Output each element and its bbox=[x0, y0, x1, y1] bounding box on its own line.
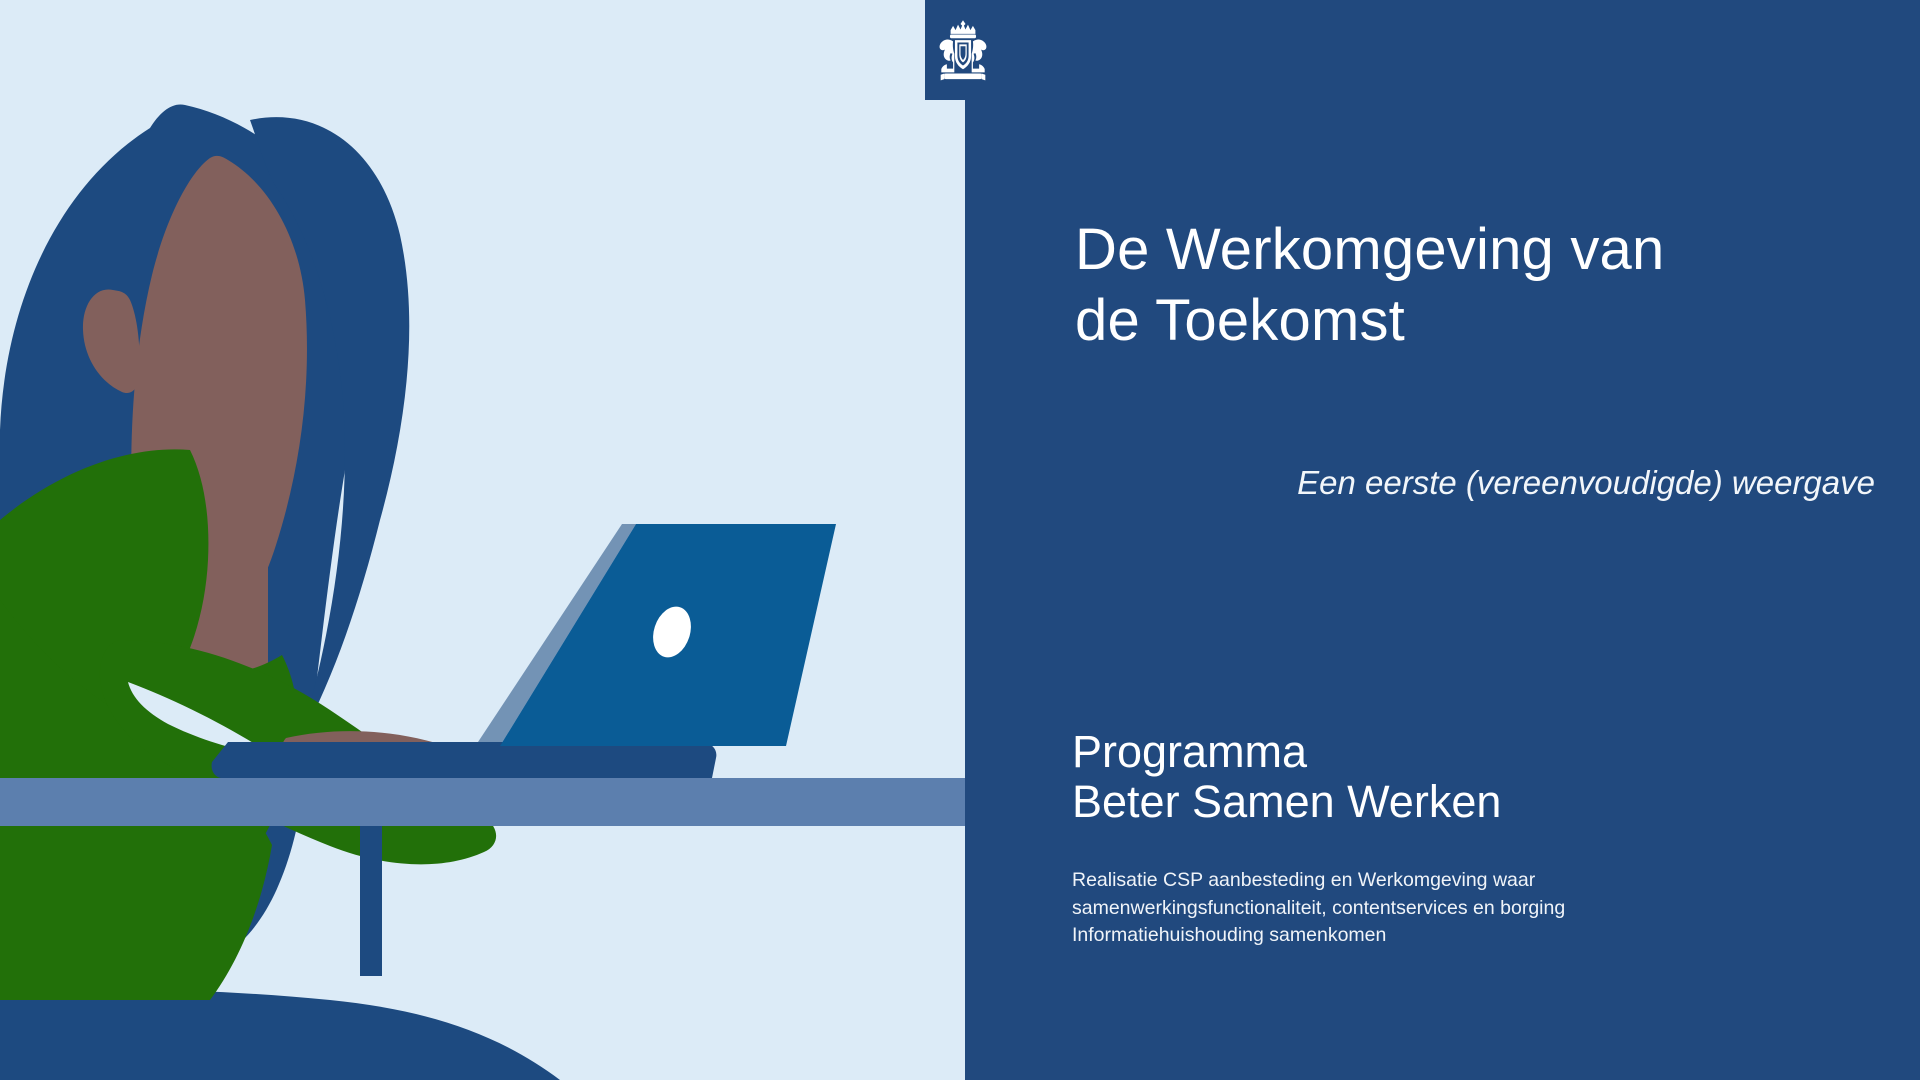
programme-line-1: Programma bbox=[1072, 727, 1892, 777]
slide-subtitle: Een eerste (vereenvoudigde) weergave bbox=[1075, 462, 1875, 503]
programme-line-2: Beter Samen Werken bbox=[1072, 777, 1892, 827]
laptop-base bbox=[212, 742, 717, 778]
blurb-line-3: Informatiehuishouding samenkomen bbox=[1072, 922, 1712, 950]
blurb-line-2: samenwerkingsfunctionaliteit, contentser… bbox=[1072, 895, 1712, 923]
blurb-line-1: Realisatie CSP aanbesteding en Werkomgev… bbox=[1072, 867, 1712, 895]
coat-of-arms-icon bbox=[932, 15, 994, 85]
desk-leg bbox=[360, 826, 382, 976]
presentation-slide: De Werkomgeving van de Toekomst Een eers… bbox=[0, 0, 1920, 1080]
hero-illustration bbox=[0, 0, 965, 1080]
title-line-1: De Werkomgeving van bbox=[1075, 217, 1664, 282]
slide-title: De Werkomgeving van de Toekomst bbox=[1075, 215, 1875, 357]
title-line-2: de Toekomst bbox=[1075, 288, 1405, 353]
programme-heading: Programma Beter Samen Werken bbox=[1072, 727, 1892, 828]
desk-top bbox=[0, 778, 965, 826]
rijksoverheid-logo-block bbox=[925, 0, 1000, 100]
programme-description: Realisatie CSP aanbesteding en Werkomgev… bbox=[1072, 867, 1712, 950]
